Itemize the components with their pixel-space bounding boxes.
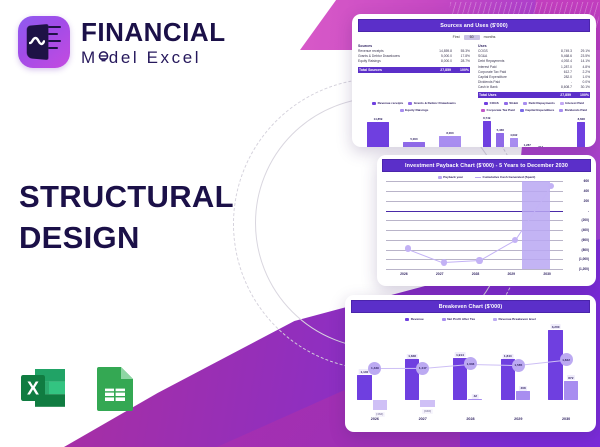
x-tick-label: 2028 [447, 417, 495, 421]
y-tick-label: 400 [565, 189, 589, 193]
uses-total-pct: 100% [571, 93, 589, 97]
sources-chart-legend: Revenue receiptsGrants & Debtor Drawdown… [358, 101, 470, 112]
revenue-value-label: 3,200 [550, 324, 561, 329]
legend-swatch [520, 109, 524, 112]
bar-value-label: 1,287 [524, 143, 531, 147]
y-tick-label: 600 [565, 179, 589, 183]
sources-total-label: Total Sources [359, 68, 425, 72]
sources-header: Sources [358, 44, 470, 48]
legend-item: Cumulative Cash Generated (Spent) [475, 175, 535, 179]
bar-value-label: 5,000 [410, 137, 417, 141]
y-tick-label: 200 [565, 199, 589, 203]
bar-column: 282 [550, 114, 558, 147]
period-toggle[interactable]: First 60 months [358, 35, 590, 40]
sources-and-uses-card[interactable]: Sources and Uses ($'000) First 60 months… [352, 14, 596, 147]
legend-item: Debt Repayments [523, 101, 555, 105]
headline-line-2: DESIGN [19, 217, 234, 258]
y-tick-label: (1,000) [565, 257, 589, 261]
sources-total-row: Total Sources 27,859 100% [358, 67, 470, 73]
legend-swatch [493, 318, 497, 321]
legend-item: Equity Raisings [400, 108, 429, 112]
sources-and-uses-title: Sources and Uses ($'000) [358, 19, 590, 32]
bar-value-label: 613 [538, 145, 543, 147]
use-label: Cash in Bank [478, 85, 546, 90]
legend-swatch [408, 102, 412, 105]
bar-column: 8,000 [439, 114, 461, 147]
google-sheets-icon [88, 362, 140, 414]
legend-swatch [438, 176, 442, 179]
payback-chart-legend: Payback yearCumulative Cash Generated (S… [382, 175, 591, 179]
source-value: 8,000.0 [426, 59, 452, 64]
x-tick-label: 2027 [422, 272, 458, 276]
bar [483, 121, 491, 147]
brand-line-2-pre: M [81, 49, 98, 66]
bar [510, 138, 518, 147]
bar-column: 8,608 [577, 114, 585, 147]
net-profit-bar: (462) [373, 399, 387, 400]
bar-value-label: 14,859 [374, 117, 383, 121]
legend-label: Cumulative Cash Generated (Spent) [483, 175, 536, 179]
uses-header: Uses [478, 44, 590, 48]
period-toggle-value[interactable]: 60 [464, 35, 480, 40]
bar-column: - [564, 114, 572, 147]
legend-label: Dividends Paid [565, 108, 587, 112]
legend-item: Interest Paid [560, 101, 584, 105]
revenue-value-label: 1,848 [407, 354, 418, 359]
bar-column: 1,287 [523, 114, 531, 147]
series-point [476, 257, 482, 263]
x-tick-label: 2026 [351, 417, 399, 421]
payback-chart-xaxis: 20262027202820292030 [386, 272, 565, 276]
period-toggle-right: months [484, 35, 496, 39]
promo-graphic: FINANCIAL M del Excel STRUCTURAL DESIGN [0, 0, 600, 447]
breakeven-chart-legend: RevenueNet Profit After TaxRevenue Break… [351, 317, 590, 321]
payback-chart-plot: 600400200-(200)(400)(600)(800)(1,000)(1,… [386, 181, 589, 269]
sources-total-value: 27,859 [425, 68, 451, 72]
bar-value-label: 5,468 [497, 128, 504, 132]
uses-total-label: Total Uses [479, 93, 545, 97]
bar [439, 136, 461, 147]
bar [496, 133, 504, 147]
table-row: Equity Raisings8,000.028.7% [358, 59, 470, 64]
breakeven-marker: 1,447 [416, 362, 429, 375]
bar-column: 14,859 [367, 114, 389, 147]
uses-total-value: 27,859 [545, 93, 571, 97]
legend-swatch [442, 318, 446, 321]
breakeven-marker: 1,822 [560, 353, 573, 366]
legend-label: Equity Raisings [405, 108, 428, 112]
revenue-bar: 1,140 [357, 375, 371, 400]
net-profit-value-label: 42 [472, 394, 478, 399]
sources-total-pct: 100% [451, 68, 469, 72]
uses-total-row: Total Uses 27,859 100% [478, 92, 590, 98]
net-profit-bar: 408 [516, 391, 530, 400]
y-tick-label: (1,200) [565, 267, 589, 271]
brand-line-2-post: del Excel [109, 49, 201, 66]
legend-label: Grants & Debtor Drawdowns [414, 101, 456, 105]
series-point [405, 245, 411, 251]
x-tick-label: 2028 [458, 272, 494, 276]
legend-label: Revenue Breakeven level [499, 317, 536, 321]
legend-label: Revenue receipts [378, 101, 404, 105]
breakeven-marker: 1,585 [512, 359, 525, 372]
headline: STRUCTURAL DESIGN [19, 176, 234, 258]
net-profit-negative-bar: (462) [373, 400, 387, 410]
legend-label: Capital Expenditure [525, 108, 554, 112]
y-tick-label: - [565, 209, 589, 213]
legend-item: Payback year [438, 175, 463, 179]
y-tick-label: (200) [565, 218, 589, 222]
legend-item: Revenue [405, 317, 423, 321]
brand-lockup: FINANCIAL M del Excel [18, 16, 226, 68]
legend-swatch [400, 109, 404, 112]
bar-value-label: 8,000 [446, 131, 453, 135]
net-profit-value-label: (462) [375, 412, 385, 417]
net-profit-bar: 42 [468, 399, 482, 400]
x-tick-label: 2030 [542, 417, 590, 421]
series-point [441, 259, 447, 265]
legend-swatch [484, 102, 488, 105]
net-profit-value-label: 408 [519, 386, 527, 391]
financial-model-app-icon [18, 16, 70, 68]
x-tick-label: 2029 [493, 272, 529, 276]
breakeven-chart-xaxis: 20262027202820292030 [351, 417, 590, 421]
source-label: Equity Raisings [358, 59, 426, 64]
x-tick-label: 2027 [399, 417, 447, 421]
payback-chart-title: Investment Payback Chart ($'000) - 5 Yea… [382, 159, 591, 172]
legend-swatch [405, 318, 409, 321]
period-toggle-left: First [453, 35, 460, 39]
bar [367, 122, 389, 147]
legend-swatch [481, 109, 485, 112]
uses-table: Uses COGS8,749.329.1%SG&A5,468.623.5%Deb… [478, 44, 590, 99]
logo-o-glyph-icon [98, 52, 109, 63]
uses-bar-chart: COGSSG&ADebt RepaymentsInterest PaidCorp… [478, 101, 590, 147]
use-pct: 30.1% [572, 85, 590, 90]
legend-label: SG&A [509, 101, 518, 105]
legend-swatch [372, 102, 376, 105]
bar-column: 5,000 [403, 114, 425, 147]
revenue-value-label: 1,844 [502, 354, 513, 359]
legend-item: Net Profit After Tax [442, 317, 475, 321]
breakeven-chart-plot: 1,140(462)1,848(336)1,914421,8444083,200… [351, 325, 590, 413]
bar-column: 4,092 [510, 114, 518, 147]
bar-column: 5,468 [496, 114, 504, 147]
uses-chart-legend: COGSSG&ADebt RepaymentsInterest PaidCorp… [478, 101, 590, 112]
x-tick-label: 2029 [494, 417, 542, 421]
legend-item: COGS [484, 101, 499, 105]
revenue-value-label: 1,914 [455, 352, 466, 357]
headline-line-1: STRUCTURAL [19, 176, 234, 217]
use-value: 8,608.7 [546, 85, 572, 90]
y-tick-label: (600) [565, 238, 589, 242]
legend-item: Corporate Tax Paid [481, 108, 515, 112]
legend-label: COGS [490, 101, 499, 105]
uses-chart-bars: 8,7495,4684,0921,287613282-8,608 [478, 114, 590, 147]
investment-payback-card[interactable]: Investment Payback Chart ($'000) - 5 Yea… [377, 155, 596, 286]
legend-swatch [560, 102, 564, 105]
legend-swatch [559, 109, 563, 112]
bar-value-label: 8,749 [483, 116, 490, 120]
svg-text:X: X [27, 379, 39, 399]
y-tick-label: (800) [565, 248, 589, 252]
legend-item: Grants & Debtor Drawdowns [408, 101, 456, 105]
sources-bar-chart: Revenue receiptsGrants & Debtor Drawdown… [358, 101, 470, 147]
sources-table: Sources Revenue receipts14,859.855.3%Gra… [358, 44, 470, 99]
legend-swatch [523, 102, 527, 105]
source-pct: 28.7% [452, 59, 470, 64]
net-profit-value-label: 872 [567, 375, 575, 380]
legend-item: Dividends Paid [559, 108, 587, 112]
legend-label: Corporate Tax Paid [487, 108, 515, 112]
legend-label: Interest Paid [565, 101, 584, 105]
x-tick-label: 2030 [529, 272, 565, 276]
net-profit-bar: 872 [564, 381, 578, 400]
legend-swatch [504, 102, 508, 105]
legend-item: SG&A [504, 101, 518, 105]
wave-icon [29, 35, 45, 47]
bar-column: 8,749 [483, 114, 491, 147]
bar [403, 142, 425, 147]
y-tick-label: (400) [565, 228, 589, 232]
net-profit-negative-bar: (336) [420, 400, 434, 407]
net-profit-bar: (336) [420, 399, 434, 400]
legend-swatch [475, 177, 481, 178]
breakeven-chart-title: Breakeven Chart ($'000) [351, 300, 590, 313]
bar-column: 613 [537, 114, 545, 147]
bar [577, 122, 585, 147]
gridline [386, 269, 563, 270]
sources-chart-bars: 14,8595,0008,000 [358, 114, 470, 147]
bar-value-label: 4,092 [510, 133, 517, 137]
brand-line-2: M del Excel [81, 49, 226, 66]
legend-label: Payback year [443, 175, 463, 179]
bar-value-label: 8,608 [578, 117, 585, 121]
net-profit-value-label: (336) [422, 409, 432, 414]
app-icon-row: X [18, 362, 140, 414]
table-row: Cash in Bank8,608.730.1% [478, 85, 590, 90]
legend-item: Revenue Breakeven level [493, 317, 536, 321]
breakeven-card[interactable]: Breakeven Chart ($'000) RevenueNet Profi… [345, 295, 596, 432]
legend-item: Revenue receipts [372, 101, 403, 105]
microsoft-excel-icon: X [18, 362, 70, 414]
legend-label: Net Profit After Tax [447, 317, 475, 321]
legend-label: Debt Repayments [529, 101, 555, 105]
logo-document-lines [48, 26, 63, 58]
legend-label: Revenue [411, 317, 424, 321]
legend-item: Capital Expenditure [520, 108, 555, 112]
x-tick-label: 2026 [386, 272, 422, 276]
revenue-bar: 3,200 [548, 330, 562, 400]
brand-line-1: FINANCIAL [81, 19, 226, 45]
